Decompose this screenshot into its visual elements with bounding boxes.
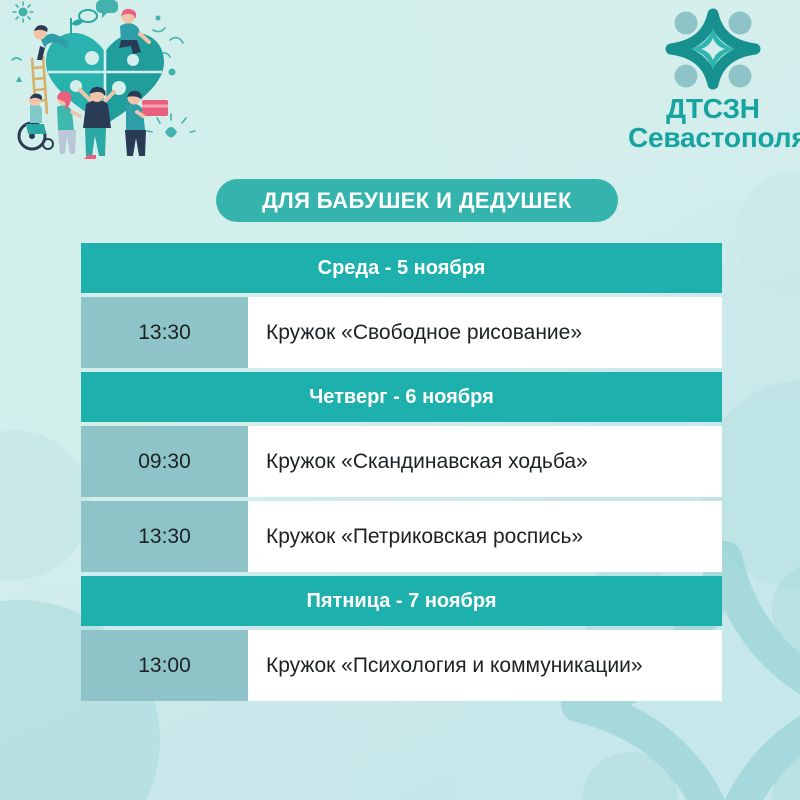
figure-wheelchair — [19, 94, 53, 149]
day-header-label: Четверг - 6 ноября — [309, 386, 494, 409]
event-title-label: Кружок «Психология и коммуникации» — [266, 654, 643, 678]
event-row: 13:30Кружок «Свободное рисование» — [81, 297, 722, 368]
event-row: 09:30Кружок «Скандинавская ходьба» — [81, 426, 722, 497]
day-header-label: Пятница - 7 ноября — [306, 590, 496, 613]
event-time-label: 13:30 — [138, 321, 191, 345]
event-title-label: Кружок «Петриковская роспись» — [266, 525, 583, 549]
page-title: ДЛЯ БАБУШЕК И ДЕДУШЕК — [216, 179, 618, 222]
event-time-cell: 13:00 — [81, 630, 248, 701]
poster: ДТСЗН Севастополя ДЛЯ БАБУШЕК И ДЕДУШЕК … — [0, 0, 800, 800]
event-title-cell: Кружок «Свободное рисование» — [248, 297, 722, 368]
event-title-cell: Кружок «Психология и коммуникации» — [248, 630, 722, 701]
decorative-circle-left — [0, 430, 90, 580]
page-title-text: ДЛЯ БАБУШЕК И ДЕДУШЕК — [262, 188, 572, 214]
logo-line-2: Севастополя — [628, 123, 800, 152]
event-title-cell: Кружок «Петриковская роспись» — [248, 501, 722, 572]
event-time-label: 13:30 — [138, 525, 191, 549]
people-building-heart-puzzle-illustration — [0, 0, 210, 165]
event-row: 13:00Кружок «Психология и коммуникации» — [81, 630, 722, 701]
event-time-label: 13:00 — [138, 654, 191, 678]
day-header-label: Среда - 5 ноября — [318, 257, 486, 280]
logo-line-1: ДТСЗН — [622, 94, 800, 123]
event-title-label: Кружок «Скандинавская ходьба» — [266, 450, 588, 474]
day-header: Пятница - 7 ноября — [81, 576, 722, 626]
event-title-cell: Кружок «Скандинавская ходьба» — [248, 426, 722, 497]
figure-center — [80, 87, 114, 159]
organization-logo: ДТСЗН Севастополя — [622, 4, 800, 152]
event-time-cell: 13:30 — [81, 297, 248, 368]
figure-box — [125, 91, 168, 156]
event-row: 13:30Кружок «Петриковская роспись» — [81, 501, 722, 572]
four-point-star-with-dots-icon — [663, 6, 763, 92]
day-header: Среда - 5 ноября — [81, 243, 722, 293]
schedule-table: Среда - 5 ноября13:30Кружок «Свободное р… — [81, 243, 722, 705]
event-time-cell: 09:30 — [81, 426, 248, 497]
event-time-cell: 13:30 — [81, 501, 248, 572]
decorative-circle-top-right — [735, 170, 800, 300]
event-time-label: 09:30 — [138, 450, 191, 474]
day-header: Четверг - 6 ноября — [81, 372, 722, 422]
event-title-label: Кружок «Свободное рисование» — [266, 321, 582, 345]
